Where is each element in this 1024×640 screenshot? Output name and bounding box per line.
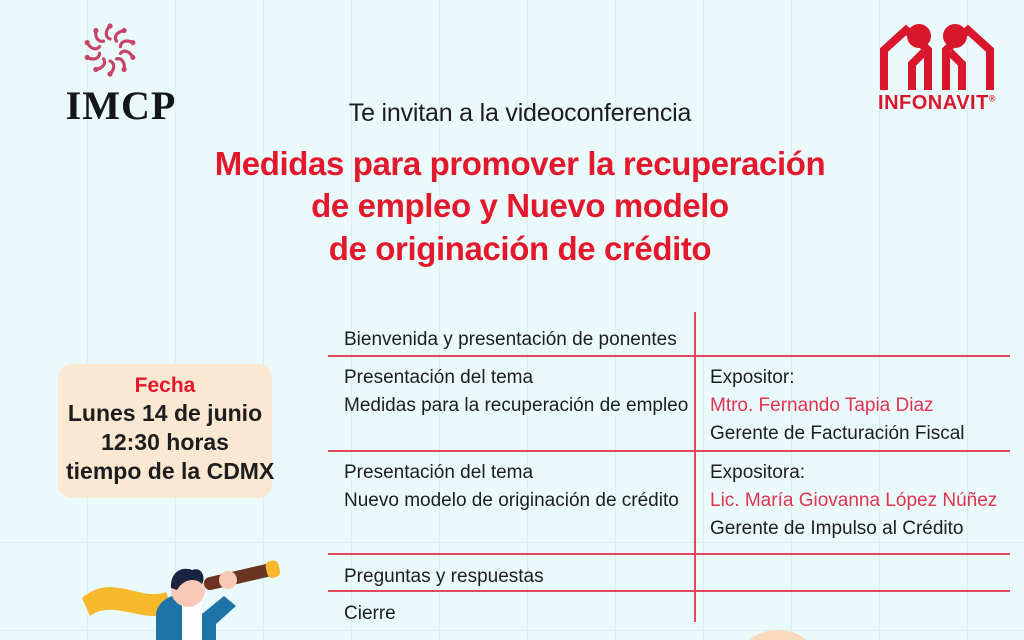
agenda-speaker-cell [694,326,1010,354]
agenda-topic-cell: Preguntas y respuestas [328,563,694,591]
peach-blob-illustration [742,624,814,640]
agenda-topic-line: Preguntas y respuestas [344,563,678,591]
videoconference-poster: IMCP INFONAVIT® Te invitan a la videocon… [0,0,1024,640]
agenda-rule-3 [328,553,1010,555]
infonavit-figures-icon [872,20,1002,92]
date-line-3: tiempo de la CDMX [66,457,264,486]
title-line-3: de originación de crédito [150,228,890,270]
title-line-1: Medidas para promover la recuperación [150,143,890,185]
agenda-topic-cell: Cierre [328,600,694,628]
agenda-speaker-cell: Expositora: Lic. María Giovanna López Nú… [694,459,1010,543]
date-line-2: 12:30 horas [66,428,264,457]
agenda-topic-line: Nuevo modelo de originación de crédito [344,487,678,515]
date-line-1: Lunes 14 de junio [66,399,264,428]
agenda-rule-2 [328,450,1010,452]
table-row: Bienvenida y presentación de ponentes [328,326,1010,354]
agenda-topic-line: Medidas para la recuperación de empleo [344,392,678,420]
agenda-speaker-cell: Expositor: Mtro. Fernando Tapia Diaz Ger… [694,364,1010,448]
date-badge: Fecha Lunes 14 de junio 12:30 horas tiem… [58,364,272,498]
man-with-spyglass-illustration [78,556,308,640]
agenda-table: Bienvenida y presentación de ponentes Pr… [328,312,1010,622]
agenda-speaker-cell [694,563,1010,591]
speaker-title: Gerente de Impulso al Crédito [710,515,1000,543]
headline-block: Te invitan a la videoconferencia Medidas… [150,98,890,270]
imcp-sunburst-icon [78,18,142,82]
agenda-topic-line: Bienvenida y presentación de ponentes [344,326,678,354]
table-row: Presentación del tema Nuevo modelo de or… [328,459,1010,543]
table-row: Presentación del tema Medidas para la re… [328,364,1010,448]
agenda-rule-1 [328,355,1010,357]
agenda-topic-line: Presentación del tema [344,459,678,487]
page-title: Medidas para promover la recuperación de… [150,143,890,270]
speaker-name: Lic. María Giovanna López Núñez [710,487,1000,515]
speaker-role-label: Expositor: [710,364,1000,392]
speaker-name: Mtro. Fernando Tapia Diaz [710,392,1000,420]
agenda-topic-line: Presentación del tema [344,364,678,392]
agenda-topic-cell: Presentación del tema Nuevo modelo de or… [328,459,694,543]
agenda-topic-line: Cierre [344,600,678,628]
agenda-topic-cell: Presentación del tema Medidas para la re… [328,364,694,448]
table-row: Cierre [328,600,1010,628]
date-label: Fecha [66,373,264,399]
invite-line: Te invitan a la videoconferencia [150,98,890,129]
agenda-topic-cell: Bienvenida y presentación de ponentes [328,326,694,354]
title-line-2: de empleo y Nuevo modelo [150,185,890,227]
speaker-title: Gerente de Facturación Fiscal [710,420,1000,448]
speaker-role-label: Expositora: [710,459,1000,487]
table-row: Preguntas y respuestas [328,563,1010,591]
